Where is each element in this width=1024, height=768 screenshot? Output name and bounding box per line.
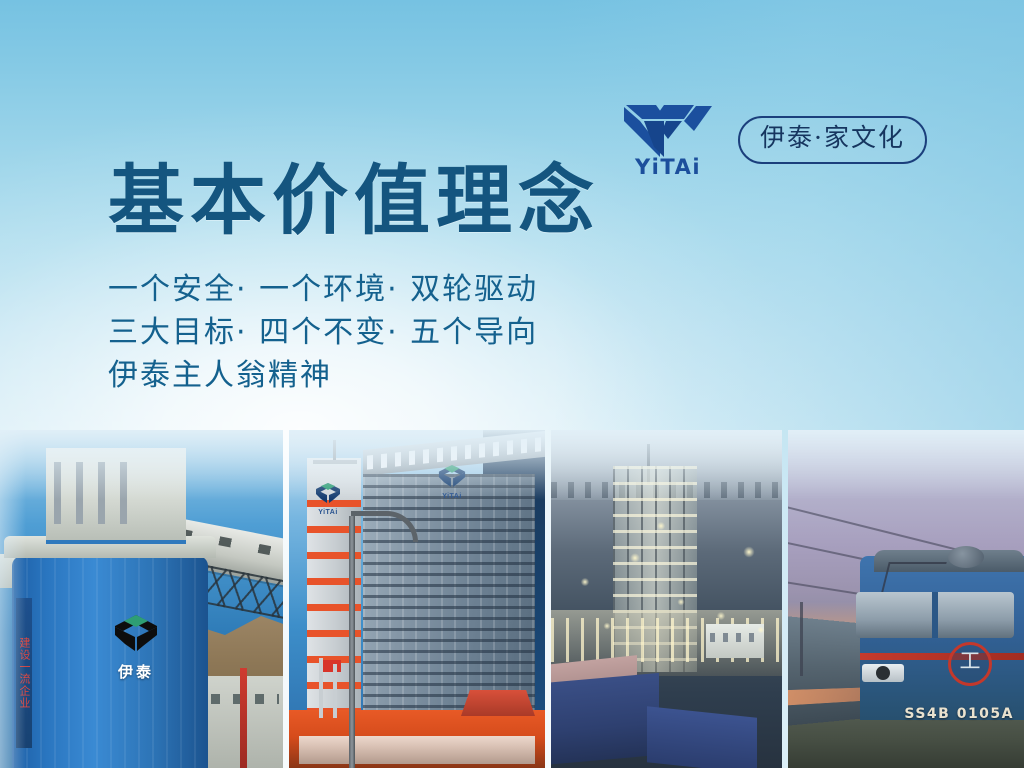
silo-top-house — [46, 448, 186, 540]
roof-mast — [333, 440, 336, 462]
brand-header: YiTAi 伊泰·家文化 — [620, 100, 950, 180]
subtitle-line-2: 三大目标· 四个不变· 五个导向 — [108, 311, 668, 354]
locomotive-number-plate: SS4B 0105A — [904, 706, 1014, 722]
china-railway-emblem-icon: 工 — [948, 642, 992, 686]
roof-mast-crossbar — [313, 460, 357, 464]
silo-logo-label: 伊泰 — [106, 661, 166, 682]
yitai-wordmark: YiTAi — [622, 157, 714, 178]
photo-panel-locomotive: 工 SS4B 0105A — [788, 430, 1024, 768]
yitai-diamond-y-logo-icon: YiTAi — [620, 101, 716, 179]
subtitle-block: 一个安全· 一个环境· 双轮驱动 三大目标· 四个不变· 五个导向 伊泰主人翁精… — [108, 268, 668, 397]
photo-strip: 伊泰 建设一流企业 YiTAi — [0, 430, 1024, 768]
glass-curtain-tower — [363, 474, 535, 712]
panel-top-fade — [788, 430, 1024, 500]
locomotive-roof-vent — [948, 546, 984, 568]
tower-logo-right-label: YiTAi — [437, 493, 467, 500]
poster-root: YiTAi 伊泰·家文化 基本价值理念 一个安全· 一个环境· 双轮驱动 三大目… — [0, 0, 1024, 768]
flag-pole-red — [319, 658, 323, 718]
tower-logo-left-icon: YiTAi — [315, 482, 341, 516]
red-vertical-sign — [240, 668, 247, 768]
red-roof-building — [461, 690, 535, 716]
catenary-pole — [800, 602, 803, 676]
locomotive-windshield — [856, 592, 1014, 638]
tower-logo-right-icon: YiTAi — [437, 464, 467, 500]
tower-logo-left-label: YiTAi — [315, 509, 341, 516]
locomotive-red-stripe — [860, 653, 1024, 660]
street-lamp-post — [349, 516, 355, 768]
plant-night-lights — [551, 430, 782, 768]
culture-badge[interactable]: 伊泰·家文化 — [738, 116, 927, 164]
silo-vertical-banner: 建设一流企业 — [16, 598, 32, 748]
flag-pole-plain — [333, 664, 337, 718]
orange-podium — [289, 710, 545, 768]
subtitle-line-1: 一个安全· 一个环境· 双轮驱动 — [108, 268, 668, 311]
photo-panel-coal-silo: 伊泰 建设一流企业 — [0, 430, 283, 768]
page-title: 基本价值理念 — [108, 158, 600, 243]
subtitle-line-3: 伊泰主人翁精神 — [108, 354, 668, 397]
locomotive-headlight — [862, 664, 904, 682]
silo-yitai-logo: 伊泰 — [106, 613, 166, 682]
photo-panel-chemical-plant — [551, 430, 782, 768]
photo-panel-headquarters: YiTAi YiTAi — [289, 430, 545, 768]
